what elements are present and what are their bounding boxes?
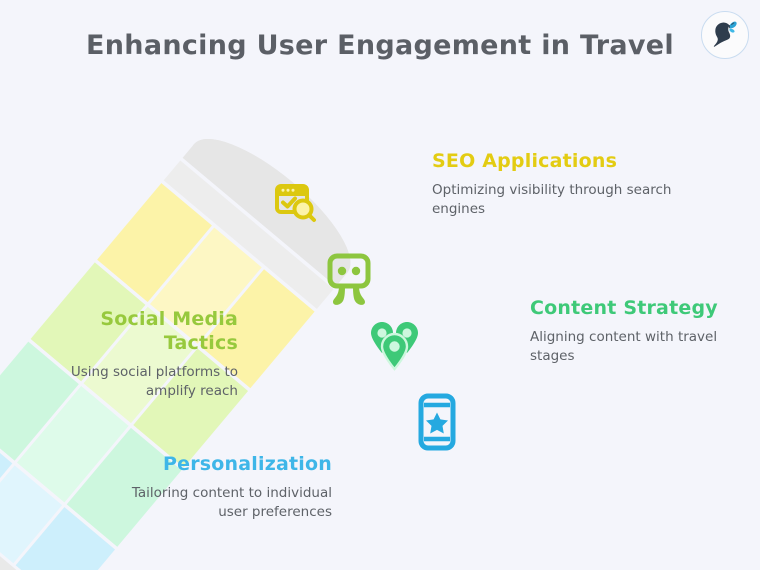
callout-seo-body: Optimizing visibility through search eng… — [432, 181, 682, 219]
callout-content-strategy-body: Aligning content with travel stages — [480, 328, 730, 366]
browser-dot-2 — [287, 189, 290, 192]
callout-social-media-tactics[interactable]: Social Media Tactics Using social platfo… — [20, 308, 238, 401]
callout-content-strategy-heading: Content Strategy — [480, 297, 730, 321]
callout-content-strategy[interactable]: Content Strategy Aligning content with t… — [480, 297, 730, 366]
robot-eye-right — [352, 267, 360, 275]
star-glyph — [426, 413, 448, 434]
infographic-canvas: Enhancing User Engagement in Travel — [0, 0, 760, 570]
callout-seo[interactable]: SEO Applications Optimizing visibility t… — [432, 150, 682, 219]
browser-dot-1 — [282, 189, 285, 192]
callout-seo-heading: SEO Applications — [432, 150, 682, 174]
callout-social-media-tactics-heading: Social Media Tactics — [20, 308, 238, 356]
browser-dot-3 — [292, 189, 295, 192]
map-pin-left-hole — [377, 328, 386, 337]
robot-eye-left — [338, 267, 346, 275]
callout-social-media-tactics-body: Using social platforms to amplify reach — [20, 363, 238, 401]
map-pin-right-hole — [402, 328, 411, 337]
callout-personalization-heading: Personalization — [110, 453, 332, 477]
mobile-star-icon[interactable] — [421, 396, 453, 448]
robot-leg-right — [353, 286, 365, 305]
map-pin-center-hole — [389, 341, 399, 351]
callout-personalization-body: Tailoring content to individual user pre… — [110, 484, 332, 522]
callout-personalization[interactable]: Personalization Tailoring content to ind… — [110, 453, 332, 522]
map-pins-icon[interactable] — [371, 322, 418, 369]
robot-leg-left — [333, 286, 345, 305]
